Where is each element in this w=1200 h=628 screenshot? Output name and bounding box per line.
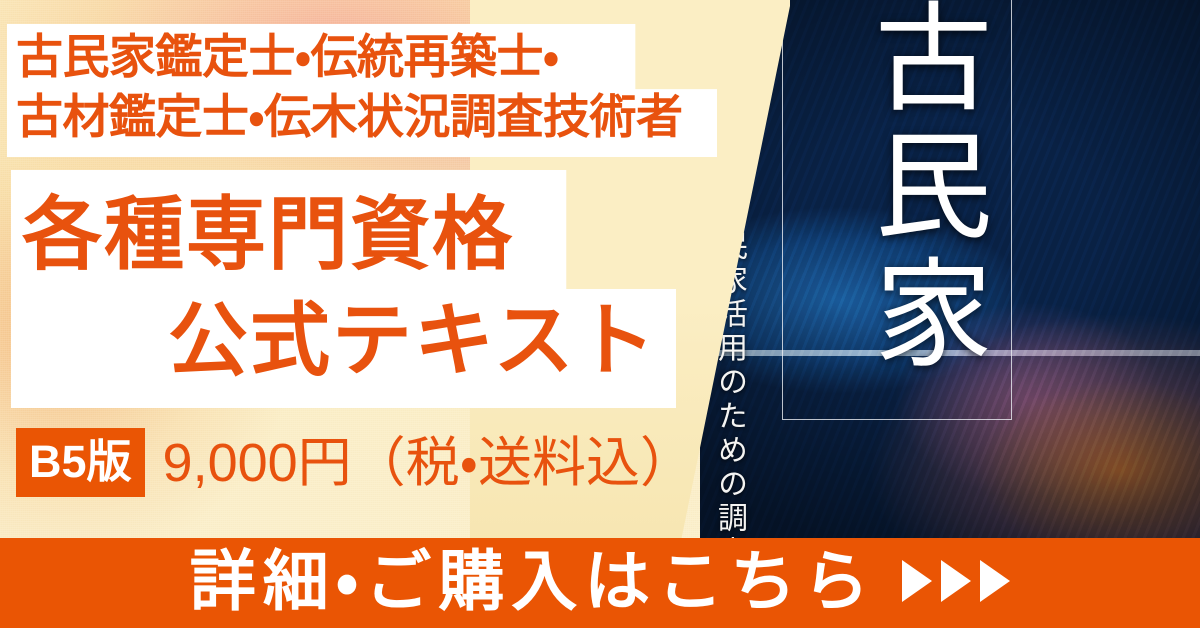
triangle-right-icon [980, 560, 1010, 602]
qualifications-text: 古民家鑑定士・伝統再築士・ 古材鑑定士・伝木状況調査技術者 [16, 27, 716, 147]
triangle-right-icon [941, 560, 971, 602]
cta-label: 詳細・ご購入はこちら [190, 548, 876, 614]
book-cover-image: 古民家 伝統構法 古民家活用のための調査と再生の [700, 0, 1200, 540]
cta-button[interactable]: 詳細・ご購入はこちら [0, 538, 1200, 628]
cta-arrow-group [902, 560, 1010, 602]
promo-banner: 古民家 伝統構法 古民家活用のための調査と再生の 古民家鑑定士・伝統再築士・ 古… [0, 0, 1200, 628]
headline-line-2: 公式テキスト [0, 288, 690, 394]
triangle-right-icon [902, 560, 932, 602]
page-title: 各種専門資格 公式テキスト [0, 182, 690, 395]
price-row: B5版 9,000円（税・送料込） [16, 428, 694, 497]
qualification-line-1: 古民家鑑定士・伝統再築士・ [16, 27, 716, 87]
format-badge: B5版 [16, 428, 145, 497]
price-amount: 9,000円（税・送料込） [163, 436, 695, 490]
headline-line-1: 各種専門資格 [0, 182, 690, 288]
book-cover-title: 古民家 [808, 0, 988, 380]
qualification-line-2: 古材鑑定士・伝木状況調査技術者 [16, 87, 716, 147]
